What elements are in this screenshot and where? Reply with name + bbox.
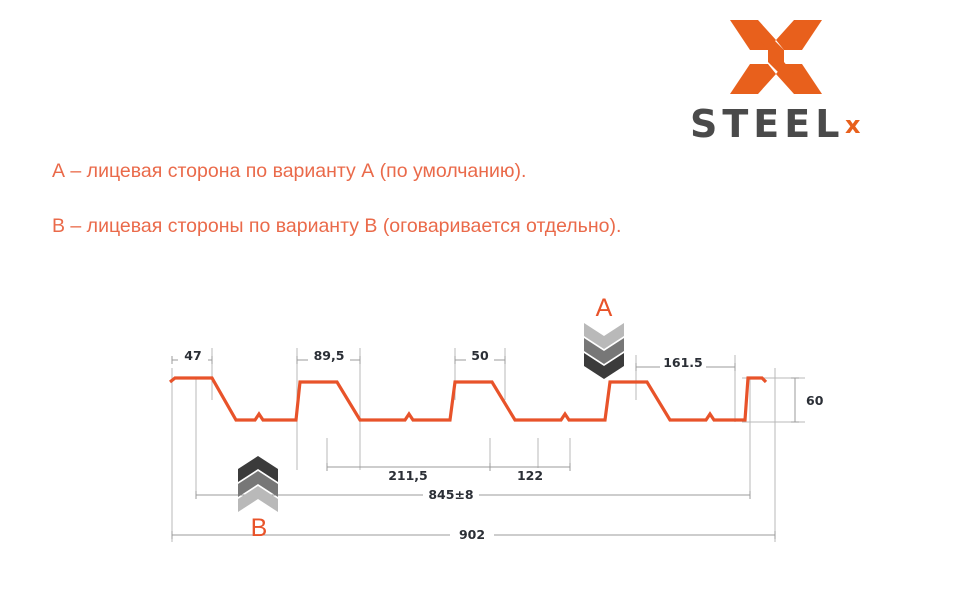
dim-211-5-label: 211,5 bbox=[388, 468, 428, 483]
dim-902-label: 902 bbox=[459, 527, 485, 542]
dim-161-5: 161.5 bbox=[636, 355, 735, 371]
dim-47: 47 bbox=[172, 348, 212, 364]
chevron-down-icon bbox=[584, 323, 624, 379]
note-variant-b: В – лицевая стороны по варианту В (огова… bbox=[52, 215, 621, 238]
dim-89-5: 89,5 bbox=[297, 348, 360, 364]
dim-50-label: 50 bbox=[471, 348, 489, 363]
extension-lines bbox=[172, 348, 805, 542]
profile-drawing: 47 89,5 50 161.5 bbox=[0, 270, 970, 570]
marker-a: А bbox=[584, 294, 624, 379]
marker-b: В bbox=[238, 456, 278, 542]
brand-logo: STEEL x bbox=[690, 18, 890, 148]
dim-89-5-label: 89,5 bbox=[314, 348, 345, 363]
dim-845-label: 845±8 bbox=[428, 487, 473, 502]
dim-122: 122 bbox=[490, 463, 570, 484]
dim-47-label: 47 bbox=[184, 348, 201, 363]
chevron-up-icon bbox=[238, 456, 278, 512]
steelx-x-mark-icon bbox=[728, 18, 824, 96]
brand-wordmark: STEEL bbox=[690, 104, 844, 144]
dim-60-label: 60 bbox=[806, 393, 824, 408]
dim-122-label: 122 bbox=[517, 468, 543, 483]
dim-60: 60 bbox=[791, 378, 824, 422]
dim-845: 845±8 bbox=[196, 487, 750, 503]
dim-161-5-label: 161.5 bbox=[663, 355, 703, 370]
sheet-profile-path bbox=[170, 378, 766, 420]
note-variant-a: А – лицевая сторона по варианту А (по ум… bbox=[52, 160, 526, 183]
brand-wordmark-row: STEEL x bbox=[690, 104, 890, 148]
dim-211-5: 211,5 bbox=[327, 463, 490, 484]
marker-b-label: В bbox=[251, 514, 268, 542]
dim-50: 50 bbox=[455, 348, 505, 364]
brand-superscript: x bbox=[845, 113, 860, 137]
marker-a-label: А bbox=[596, 294, 613, 322]
